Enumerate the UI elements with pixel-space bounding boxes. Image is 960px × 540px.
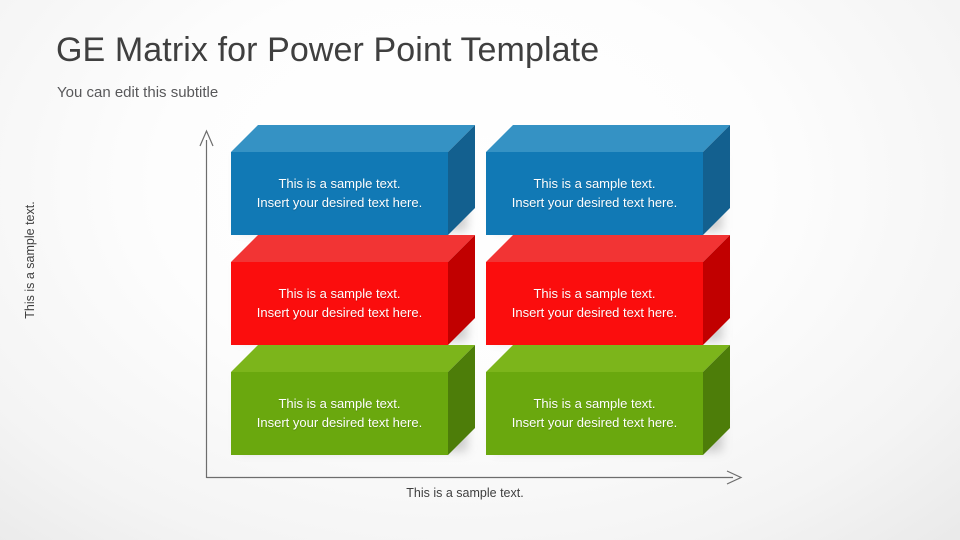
matrix-cell-green-r2c0[interactable]: This is a sample text.Insert your desire…	[231, 345, 475, 455]
cell-label-line2: Insert your desired text here.	[512, 415, 677, 431]
cell-label-line1: This is a sample text.	[278, 286, 400, 302]
matrix-cell-blue-r0c0[interactable]: This is a sample text.Insert your desire…	[231, 125, 475, 235]
ge-matrix-grid: This is a sample text.Insert your desire…	[0, 0, 960, 540]
cell-label-line2: Insert your desired text here.	[257, 195, 422, 211]
cell-label-line1: This is a sample text.	[278, 396, 400, 412]
matrix-cell-green-r2c1[interactable]: This is a sample text.Insert your desire…	[486, 345, 730, 455]
cell-label-line2: Insert your desired text here.	[512, 195, 677, 211]
cell-label: This is a sample text.Insert your desire…	[231, 372, 448, 455]
cell-label: This is a sample text.Insert your desire…	[231, 152, 448, 235]
cell-label: This is a sample text.Insert your desire…	[486, 262, 703, 345]
cell-label-line1: This is a sample text.	[278, 176, 400, 192]
cell-label-line1: This is a sample text.	[533, 286, 655, 302]
cell-label: This is a sample text.Insert your desire…	[486, 152, 703, 235]
cell-label: This is a sample text.Insert your desire…	[486, 372, 703, 455]
cell-label: This is a sample text.Insert your desire…	[231, 262, 448, 345]
matrix-cell-red-r1c0[interactable]: This is a sample text.Insert your desire…	[231, 235, 475, 345]
cell-label-line2: Insert your desired text here.	[257, 305, 422, 321]
cell-label-line2: Insert your desired text here.	[257, 415, 422, 431]
cell-label-line1: This is a sample text.	[533, 396, 655, 412]
cell-label-line1: This is a sample text.	[533, 176, 655, 192]
matrix-cell-blue-r0c1[interactable]: This is a sample text.Insert your desire…	[486, 125, 730, 235]
matrix-cell-red-r1c1[interactable]: This is a sample text.Insert your desire…	[486, 235, 730, 345]
cell-label-line2: Insert your desired text here.	[512, 305, 677, 321]
